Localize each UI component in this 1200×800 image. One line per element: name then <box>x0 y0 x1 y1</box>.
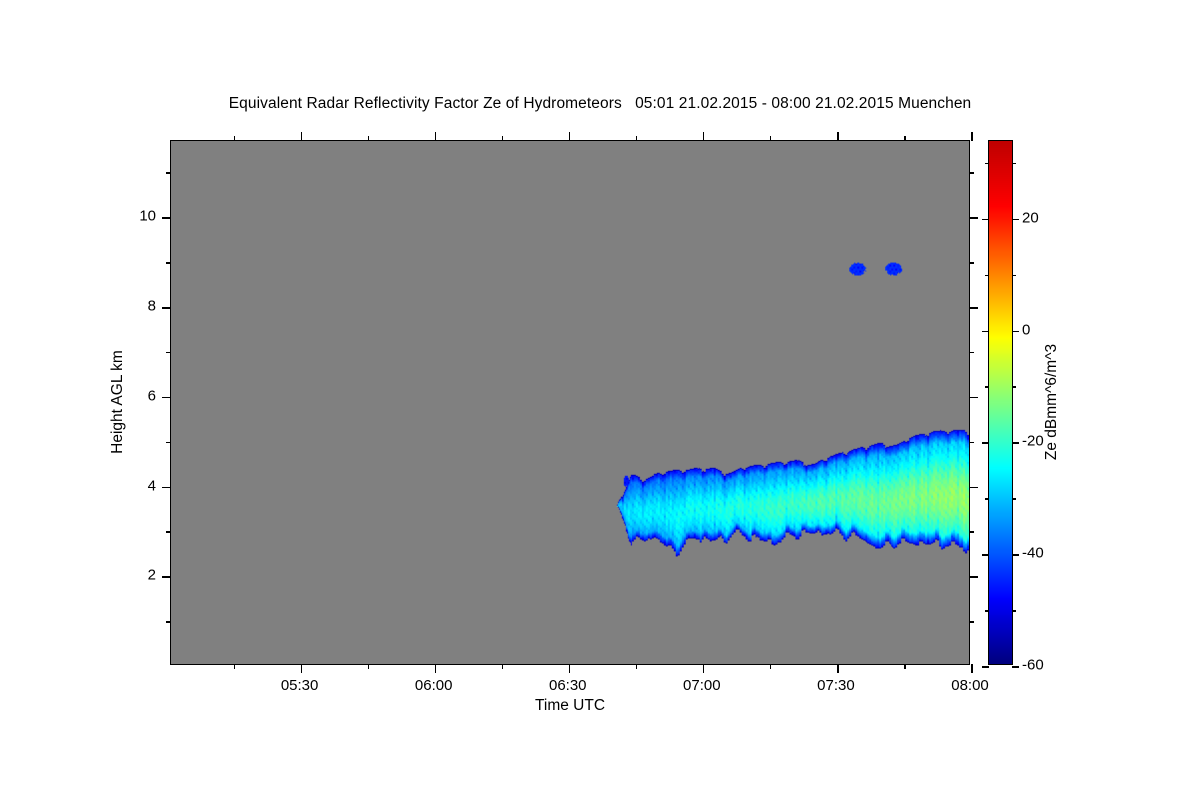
y-axis-minor-tick-right <box>969 621 974 623</box>
colorbar-tick-left <box>982 219 989 221</box>
x-axis-tick-label: 07:30 <box>817 677 855 694</box>
x-axis-minor-tick-top <box>904 136 906 141</box>
colorbar-tick-left <box>982 442 989 444</box>
x-axis-tick-top <box>435 132 437 141</box>
colorbar-minor-tick-left <box>985 610 989 612</box>
y-axis-tick-label: 10 <box>139 208 156 225</box>
x-axis-minor-tick <box>234 664 236 669</box>
x-axis-tick-top <box>971 132 973 141</box>
y-axis-tick-label: 4 <box>148 477 156 494</box>
x-axis-minor-tick <box>904 664 906 669</box>
colorbar-tick-label: 0 <box>1022 321 1030 338</box>
colorbar-tick-label: -40 <box>1022 545 1044 562</box>
y-axis-tick-right <box>969 487 978 489</box>
y-axis-minor-tick-right <box>969 352 974 354</box>
y-axis-minor-tick <box>166 262 171 264</box>
x-axis-tick-top <box>837 132 839 141</box>
x-axis-tick-label: 07:00 <box>683 677 721 694</box>
colorbar-tick-left <box>982 666 989 668</box>
x-axis-minor-tick <box>636 664 638 669</box>
colorbar-minor-tick <box>1012 386 1016 388</box>
x-axis-tick-label: 05:30 <box>281 677 319 694</box>
y-axis-title: Height AGL km <box>109 350 127 454</box>
colorbar-tick <box>1012 442 1019 444</box>
x-axis-tick-top <box>569 132 571 141</box>
x-axis-tick-label: 06:00 <box>415 677 453 694</box>
colorbar-tick <box>1012 666 1019 668</box>
x-axis-tick <box>435 664 437 673</box>
x-axis-tick-top <box>301 132 303 141</box>
radar-figure: Equivalent Radar Reflectivity Factor Ze … <box>0 0 1200 800</box>
colorbar-minor-tick <box>1012 163 1016 165</box>
x-axis-minor-tick-top <box>234 136 236 141</box>
x-axis-title: Time UTC <box>170 697 970 715</box>
y-axis-minor-tick-right <box>969 262 974 264</box>
colorbar-tick-label: 20 <box>1022 209 1039 226</box>
colorbar-minor-tick-left <box>985 163 989 165</box>
x-axis-tick <box>971 664 973 673</box>
x-axis-tick <box>569 664 571 673</box>
x-axis-minor-tick-top <box>368 136 370 141</box>
y-axis-minor-tick <box>166 442 171 444</box>
y-axis-minor-tick <box>166 352 171 354</box>
colorbar-minor-tick <box>1012 275 1016 277</box>
y-axis-tick-right <box>969 307 978 309</box>
y-axis-tick <box>162 397 171 399</box>
x-axis-minor-tick-top <box>502 136 504 141</box>
x-axis-tick <box>301 664 303 673</box>
colorbar-minor-tick <box>1012 498 1016 500</box>
x-axis-tick-label: 08:00 <box>951 677 989 694</box>
y-axis-tick-label: 2 <box>148 567 156 584</box>
x-axis-minor-tick <box>502 664 504 669</box>
y-axis-tick-right <box>969 576 978 578</box>
y-axis-minor-tick <box>166 172 171 174</box>
colorbar-tick <box>1012 331 1019 333</box>
colorbar-tick <box>1012 554 1019 556</box>
x-axis-tick-top <box>703 132 705 141</box>
colorbar-tick <box>1012 219 1019 221</box>
y-axis-minor-tick <box>166 531 171 533</box>
colorbar-tick-left <box>982 554 989 556</box>
x-axis-minor-tick <box>770 664 772 669</box>
colorbar-minor-tick <box>1012 610 1016 612</box>
x-axis-minor-tick-top <box>770 136 772 141</box>
y-axis-tick-label: 6 <box>148 387 156 404</box>
x-axis-tick <box>837 664 839 673</box>
page-title: Equivalent Radar Reflectivity Factor Ze … <box>0 95 1200 113</box>
x-axis-tick <box>703 664 705 673</box>
colorbar-tick-label: -20 <box>1022 433 1044 450</box>
y-axis-tick <box>162 307 171 309</box>
y-axis-tick <box>162 576 171 578</box>
reflectivity-heatmap <box>171 141 969 664</box>
y-axis-tick-right <box>969 217 978 219</box>
x-axis-minor-tick <box>368 664 370 669</box>
x-axis-tick-label: 06:30 <box>549 677 587 694</box>
colorbar-tick-label: -60 <box>1022 657 1044 674</box>
colorbar-title: Ze dBmm^6/m^3 <box>1043 344 1061 460</box>
y-axis-minor-tick-right <box>969 442 974 444</box>
colorbar-gradient <box>989 141 1012 664</box>
colorbar-minor-tick-left <box>985 498 989 500</box>
colorbar[interactable] <box>988 140 1013 665</box>
y-axis-tick <box>162 217 171 219</box>
y-axis-minor-tick-right <box>969 531 974 533</box>
y-axis-minor-tick-right <box>969 172 974 174</box>
plot-area[interactable] <box>170 140 970 665</box>
colorbar-minor-tick-left <box>985 275 989 277</box>
y-axis-tick <box>162 487 171 489</box>
y-axis-tick-label: 8 <box>148 298 156 315</box>
y-axis-minor-tick <box>166 621 171 623</box>
colorbar-tick-left <box>982 331 989 333</box>
x-axis-minor-tick-top <box>636 136 638 141</box>
colorbar-minor-tick-left <box>985 386 989 388</box>
y-axis-tick-right <box>969 397 978 399</box>
